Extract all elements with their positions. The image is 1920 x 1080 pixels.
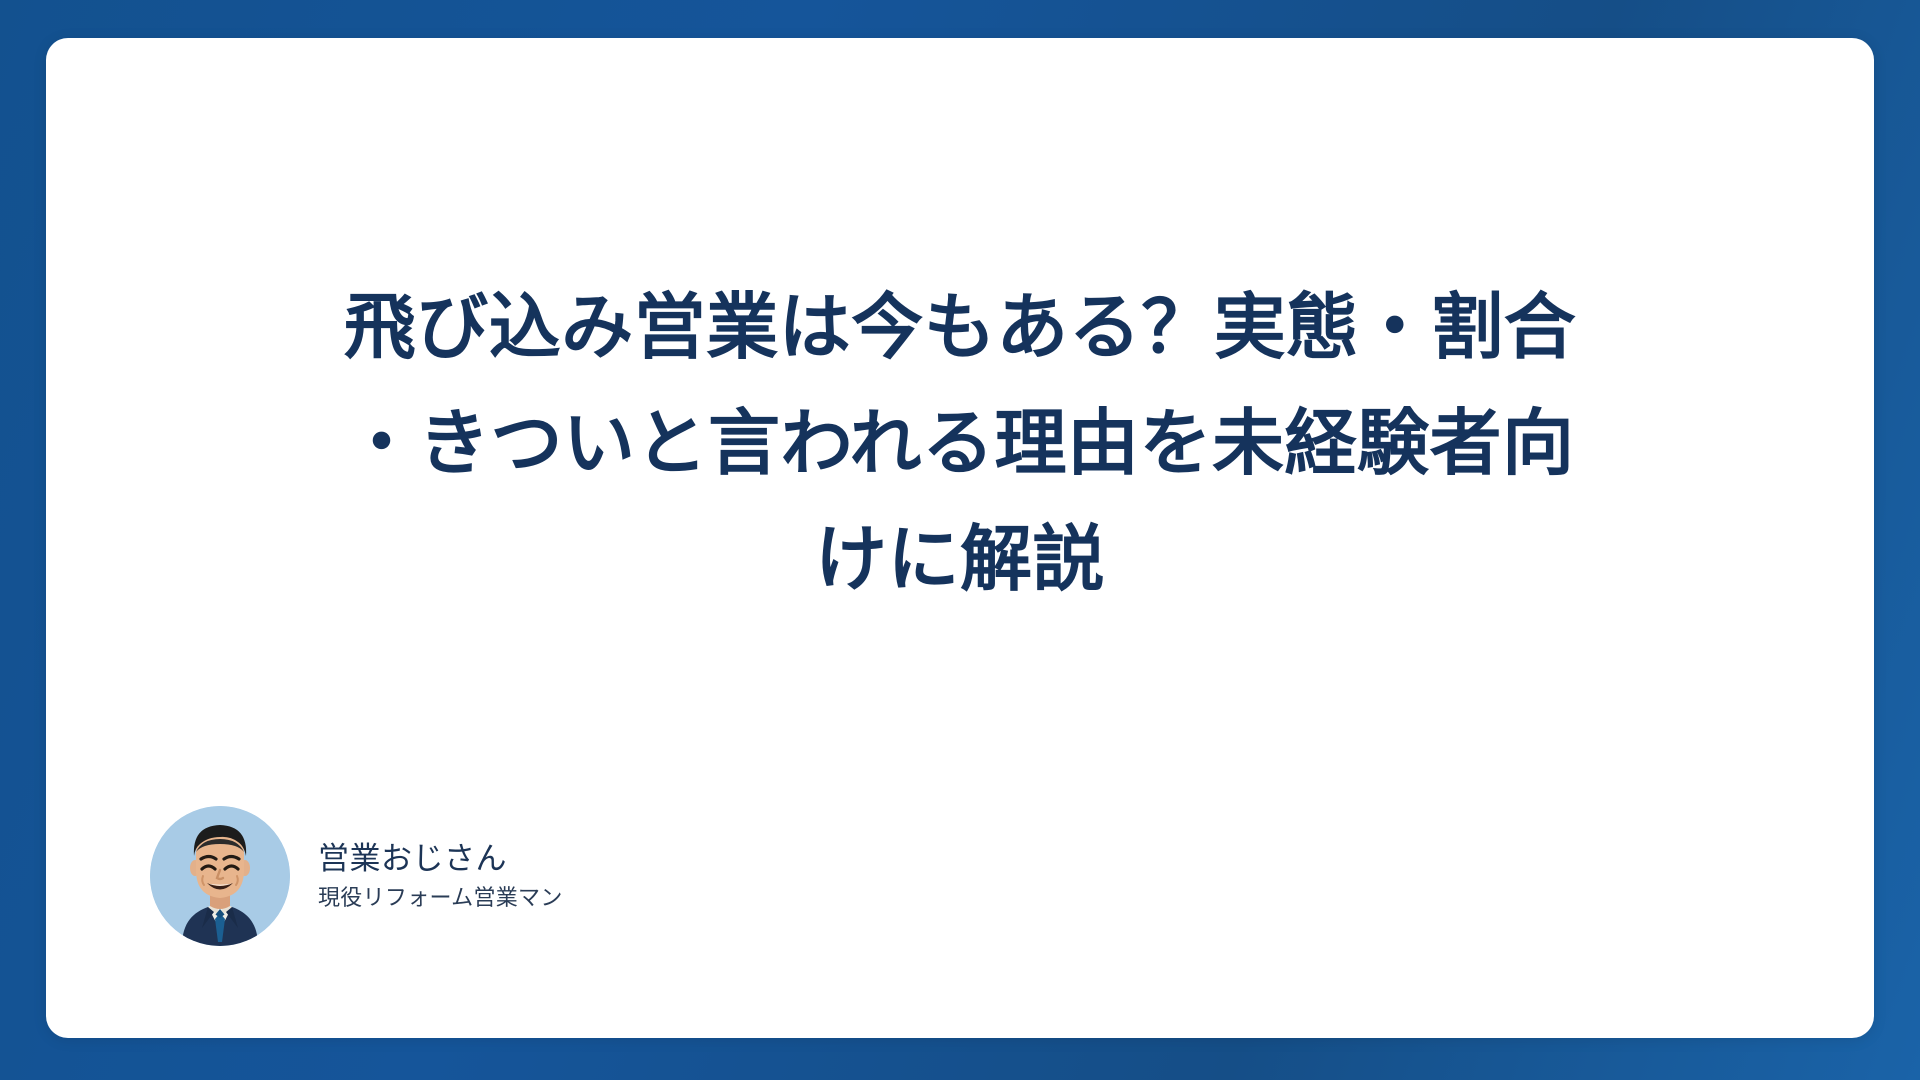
author-name: 営業おじさん [318,842,563,876]
page-title: 飛び込み営業は今もある？実態・割合 ・きついと言われる理由を未経験者向 けに解説 [46,270,1874,618]
author-byline: 営業おじさん 現役リフォーム営業マン [150,806,563,946]
title-line-3: けに解説 [815,502,1105,618]
author-text: 営業おじさん 現役リフォーム営業マン [318,842,563,910]
avatar [150,806,290,946]
title-line-1: 飛び込み営業は今もある？実態・割合 [344,270,1577,386]
avatar-salesman-photo-icon [150,806,290,946]
author-role: 現役リフォーム営業マン [318,886,563,910]
slide-frame: 飛び込み営業は今もある？実態・割合 ・きついと言われる理由を未経験者向 けに解説 [0,0,1920,1080]
slide-card: 飛び込み営業は今もある？実態・割合 ・きついと言われる理由を未経験者向 けに解説 [46,38,1874,1038]
title-line-2: ・きついと言われる理由を未経験者向 [346,386,1575,502]
